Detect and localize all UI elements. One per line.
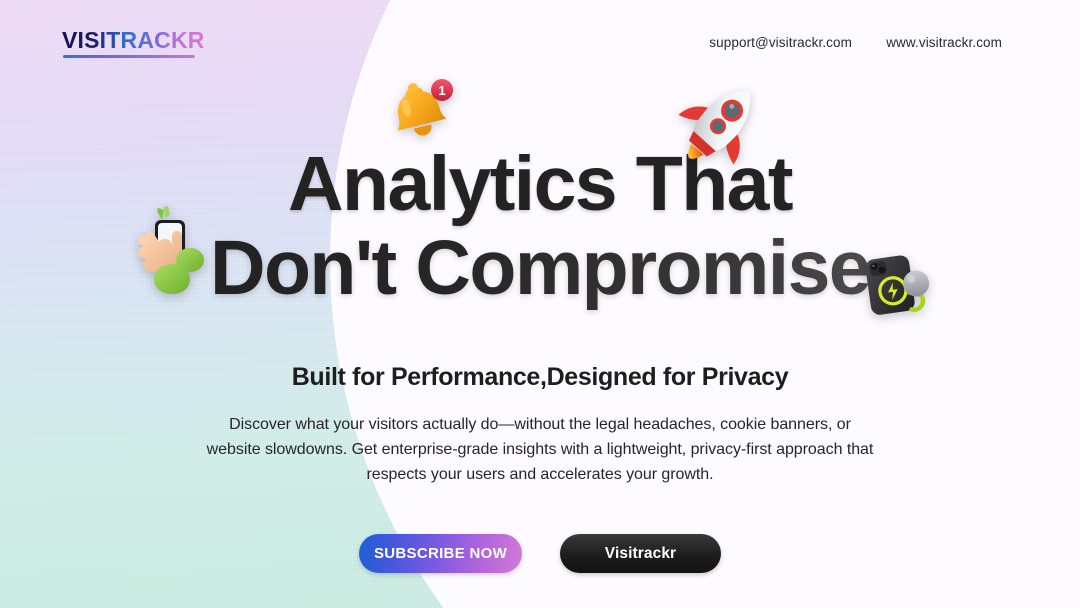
hero-page: VISITRACKR support@visitrackr.com www.vi… <box>0 0 1080 608</box>
contact-website-link[interactable]: www.visitrackr.com <box>886 35 1002 50</box>
background-right-panel <box>860 0 1080 608</box>
hero-subheading: Built for Performance,Designed for Priva… <box>0 363 1080 392</box>
visitrackr-button[interactable]: Visitrackr <box>560 534 721 573</box>
site-header: VISITRACKR support@visitrackr.com www.vi… <box>0 0 1080 86</box>
brand-logo[interactable]: VISITRACKR <box>62 29 205 52</box>
hero-paragraph: Discover what your visitors actually do—… <box>200 412 880 487</box>
contact-email-link[interactable]: support@visitrackr.com <box>709 35 852 50</box>
subscribe-now-button[interactable]: SUBSCRIBE NOW <box>359 534 522 573</box>
brand-logo-underline <box>63 55 195 58</box>
hero-cta-group: SUBSCRIBE NOW Visitrackr <box>0 534 1080 573</box>
